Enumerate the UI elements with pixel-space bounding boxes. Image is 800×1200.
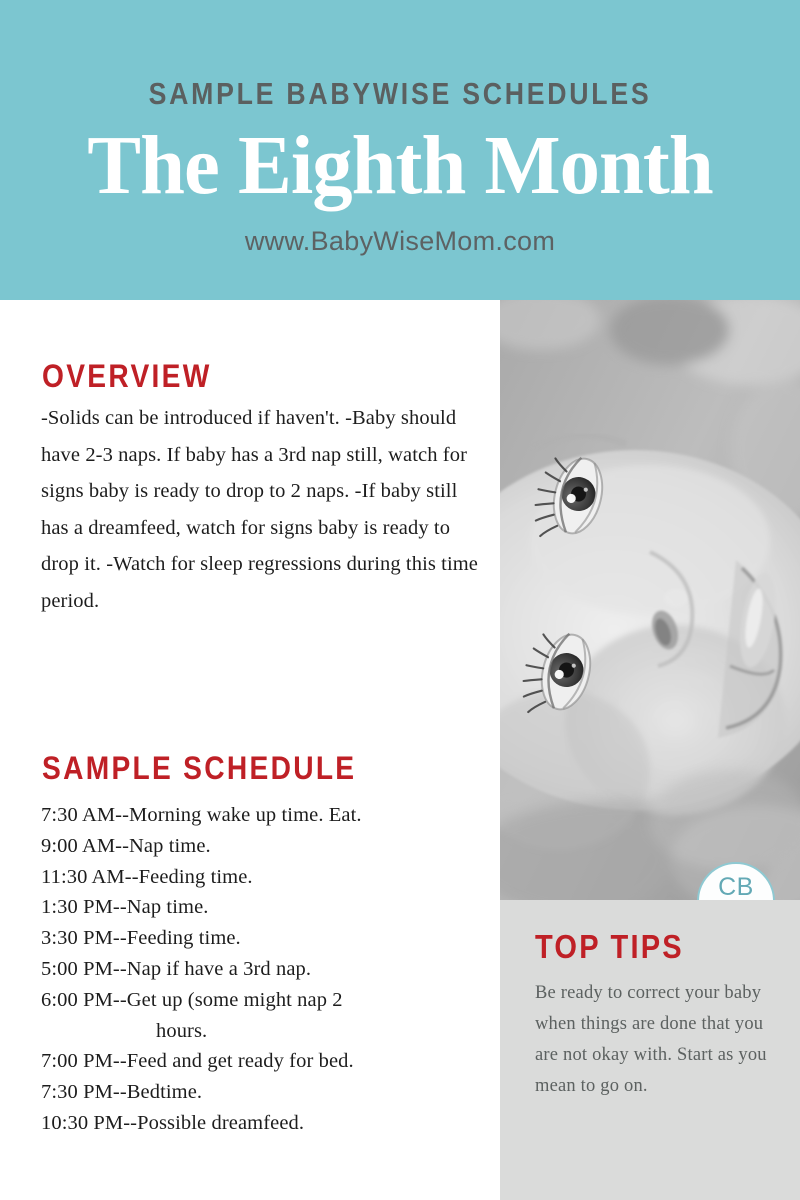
- page-title: The Eighth Month: [16, 124, 784, 208]
- top-tips-panel: TOP TIPS Be ready to correct your baby w…: [500, 900, 800, 1200]
- logo-line-1: CB: [699, 875, 773, 901]
- sample-schedule-heading: SAMPLE SCHEDULE: [42, 752, 356, 784]
- header-eyebrow: SAMPLE BABYWISE SCHEDULES: [56, 78, 744, 109]
- schedule-entry: 7:00 PM--Feed and get ready for bed.: [41, 1046, 491, 1077]
- schedule-entry: 7:30 PM--Bedtime.: [41, 1077, 491, 1108]
- top-tips-body: Be ready to correct your baby when thing…: [535, 978, 775, 1102]
- schedule-entry: 1:30 PM--Nap time.: [41, 892, 491, 923]
- schedule-entry: 11:30 AM--Feeding time.: [41, 862, 491, 893]
- overview-body: -Solids can be introduced if haven't. -B…: [41, 400, 481, 619]
- website-url: www.BabyWiseMom.com: [0, 228, 800, 255]
- schedule-entry: 5:00 PM--Nap if have a 3rd nap.: [41, 954, 491, 985]
- schedule-entry: 3:30 PM--Feeding time.: [41, 923, 491, 954]
- sample-schedule-list: 7:30 AM--Morning wake up time. Eat. 9:00…: [41, 800, 491, 1139]
- baby-photo: [500, 300, 800, 900]
- overview-heading: OVERVIEW: [42, 360, 212, 392]
- schedule-entry: 10:30 PM--Possible dreamfeed.: [41, 1108, 491, 1139]
- top-tips-heading: TOP TIPS: [535, 930, 684, 963]
- header-banner: SAMPLE BABYWISE SCHEDULES The Eighth Mon…: [0, 0, 800, 300]
- infographic-poster: SAMPLE BABYWISE SCHEDULES The Eighth Mon…: [0, 0, 800, 1200]
- schedule-entry: 7:30 AM--Morning wake up time. Eat.: [41, 800, 491, 831]
- schedule-entry: 9:00 AM--Nap time.: [41, 831, 491, 862]
- left-content-column: OVERVIEW -Solids can be introduced if ha…: [0, 300, 500, 1200]
- schedule-entry-continuation: hours.: [41, 1016, 491, 1047]
- schedule-entry: 6:00 PM--Get up (some might nap 2: [41, 985, 491, 1016]
